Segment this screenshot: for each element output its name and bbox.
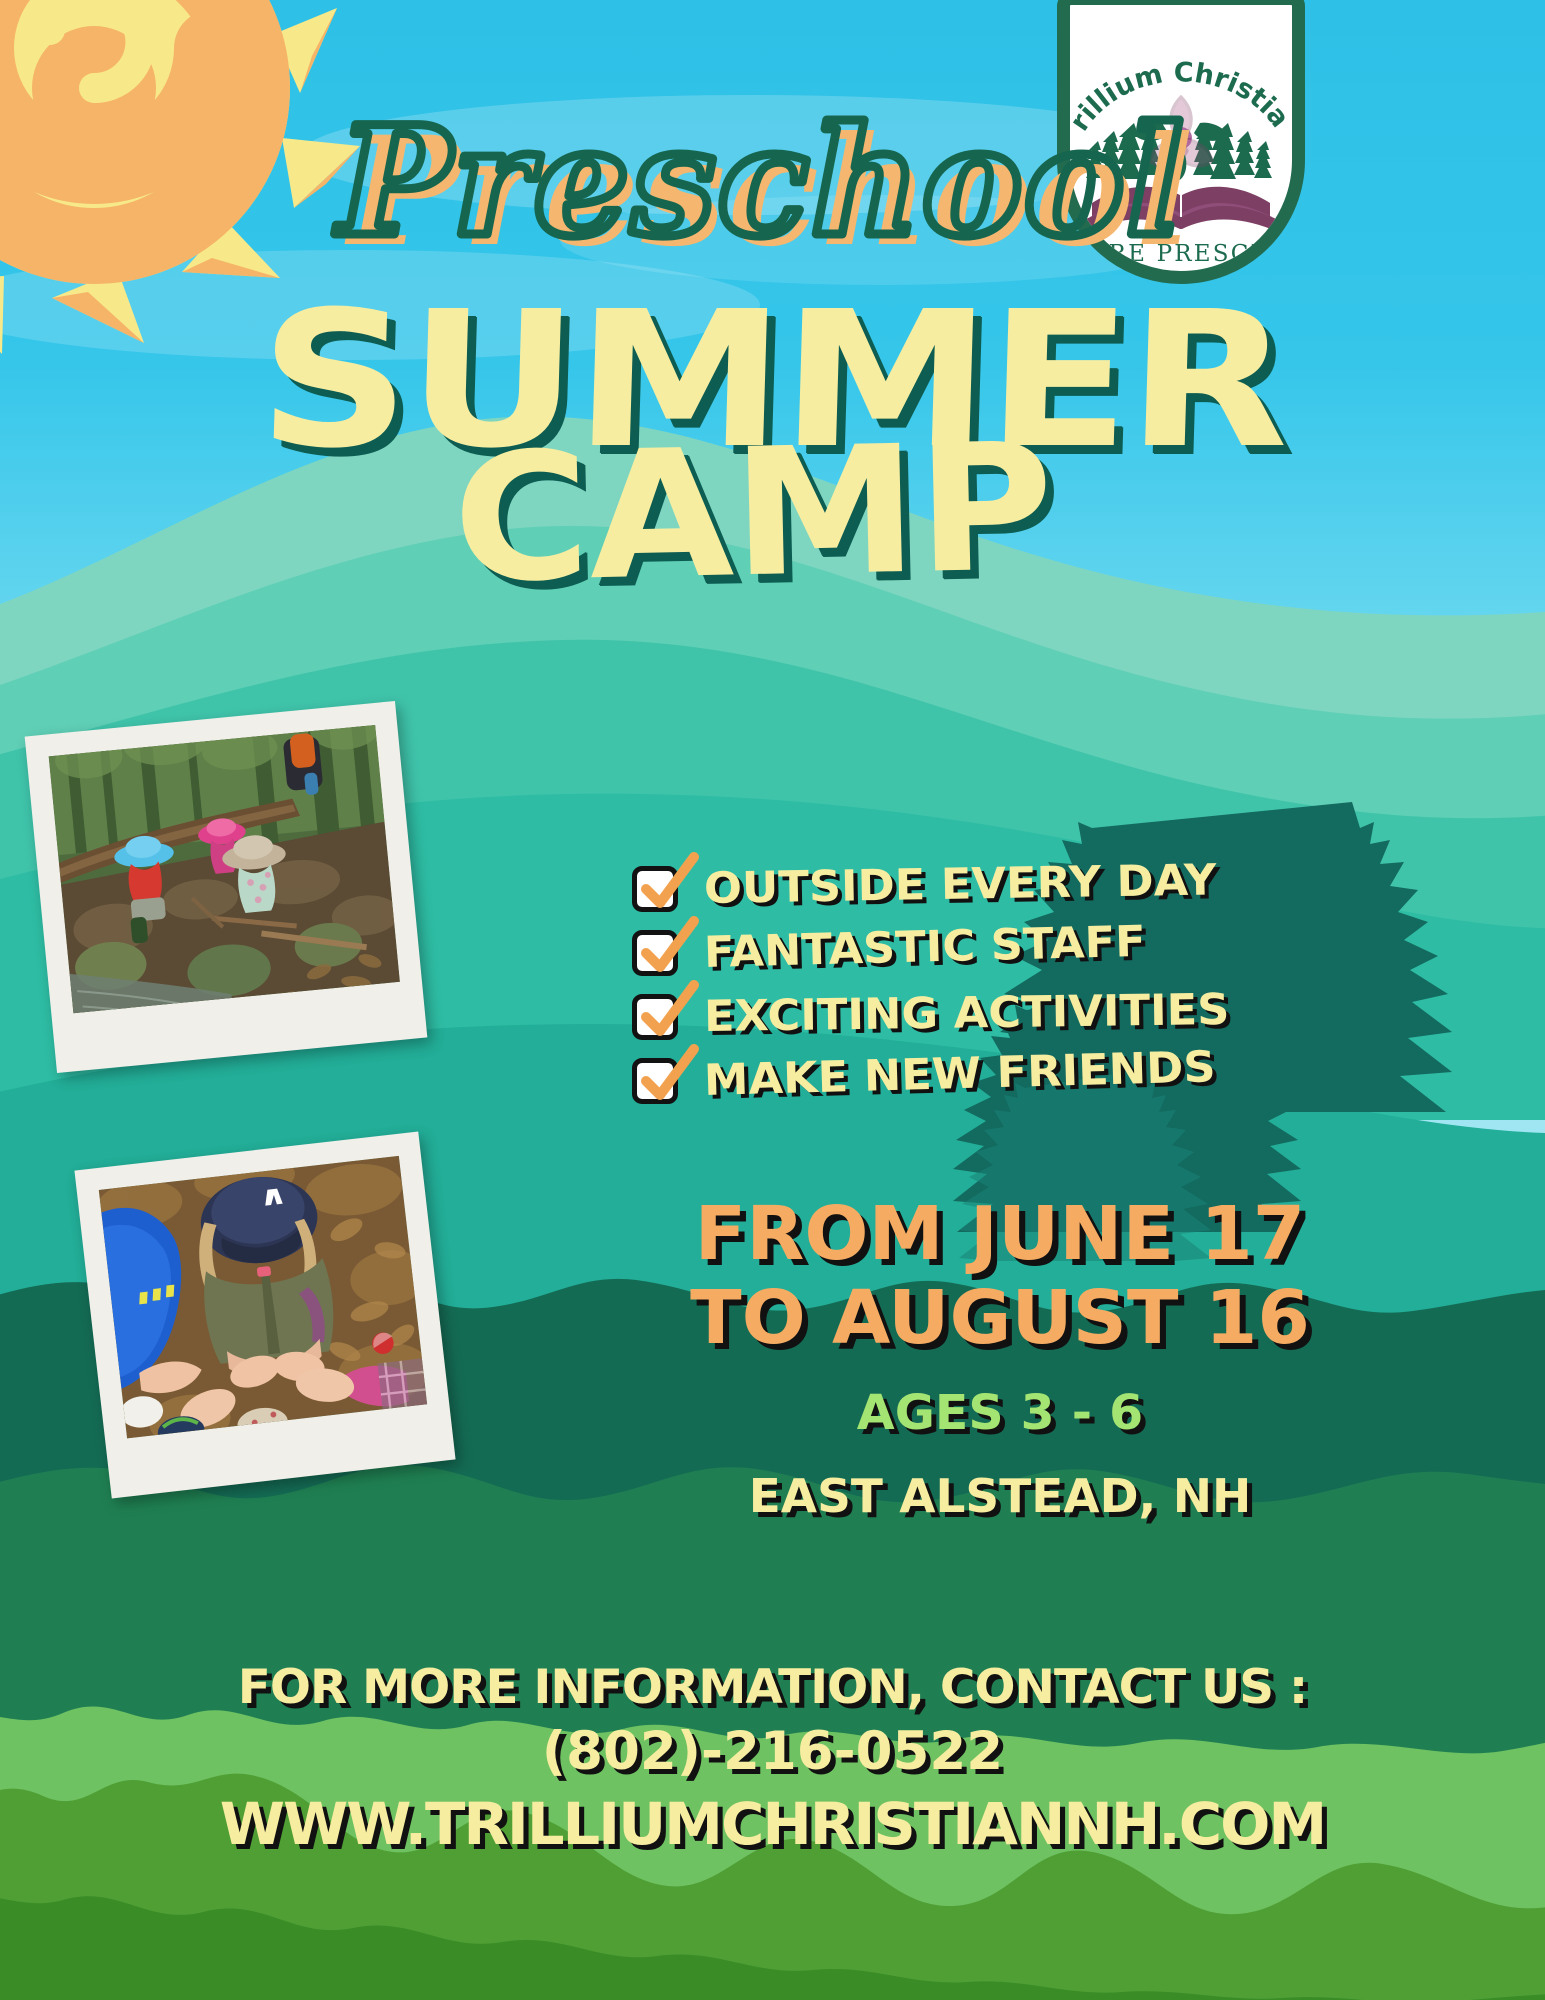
contact-block: FOR MORE INFORMATION, CONTACT US : (802)…: [0, 1660, 1545, 1858]
checklist-label: EXCITING ACTIVITIES: [704, 985, 1230, 1042]
checkbox-make-new-friends[interactable]: [632, 1058, 678, 1104]
contact-prompt: FOR MORE INFORMATION, CONTACT US :: [0, 1660, 1545, 1715]
session-details: FROM JUNE 17 TO AUGUST 16 AGES 3 - 6 EAS…: [560, 1195, 1440, 1523]
photo-artwork: [99, 1156, 427, 1439]
photo-children-exploring-stream[interactable]: [25, 701, 428, 1073]
headline-group: Preschool Preschool SUMMER CAMP: [0, 0, 1545, 720]
check-mark-icon: [632, 909, 704, 981]
age-range: AGES 3 - 6: [551, 1385, 1449, 1441]
checklist-item[interactable]: MAKE NEW FRIENDS: [632, 1052, 1272, 1110]
checklist-label: MAKE NEW FRIENDS: [703, 1042, 1216, 1106]
checkbox-fantastic-staff[interactable]: [632, 930, 678, 976]
check-mark-icon: [632, 845, 704, 917]
date-range-line-2: TO AUGUST 16: [551, 1279, 1449, 1359]
checklist-label: FANTASTIC STAFF: [703, 917, 1146, 978]
checklist-item[interactable]: FANTASTIC STAFF: [632, 924, 1272, 982]
checkbox-outside-every-day[interactable]: [632, 866, 678, 912]
location-text: EAST ALSTEAD, NH: [551, 1469, 1449, 1523]
feature-checklist: OUTSIDE EVERY DAY FANTASTIC STAFF EXCITI…: [632, 860, 1272, 1116]
headline-camp-line: CAMP: [0, 438, 1545, 589]
check-mark-icon: [632, 1037, 704, 1109]
flyer-canvas: ~Trillium Christian~: [0, 0, 1545, 2000]
check-mark-icon: [632, 973, 704, 1045]
headline-script-outline: Preschool: [334, 94, 1185, 270]
photo-children-cupped-hands[interactable]: [74, 1131, 455, 1498]
photo-frame-inner: [99, 1156, 427, 1439]
grass-band-dark: [0, 1840, 1545, 2000]
date-range-line-1: FROM JUNE 17: [551, 1195, 1449, 1275]
headline-camp-text: CAMP: [451, 432, 1054, 595]
contact-website[interactable]: WWW.TRILLIUMCHRISTIANNH.COM: [0, 1790, 1545, 1858]
checklist-item[interactable]: EXCITING ACTIVITIES: [632, 988, 1272, 1046]
checkbox-exciting-activities[interactable]: [632, 994, 678, 1040]
contact-phone[interactable]: (802)-216-0522: [0, 1721, 1545, 1782]
photo-frame-inner: [49, 725, 400, 1013]
checklist-item[interactable]: OUTSIDE EVERY DAY: [632, 860, 1272, 918]
photo-artwork: [49, 725, 400, 1013]
checklist-label: OUTSIDE EVERY DAY: [704, 855, 1217, 914]
